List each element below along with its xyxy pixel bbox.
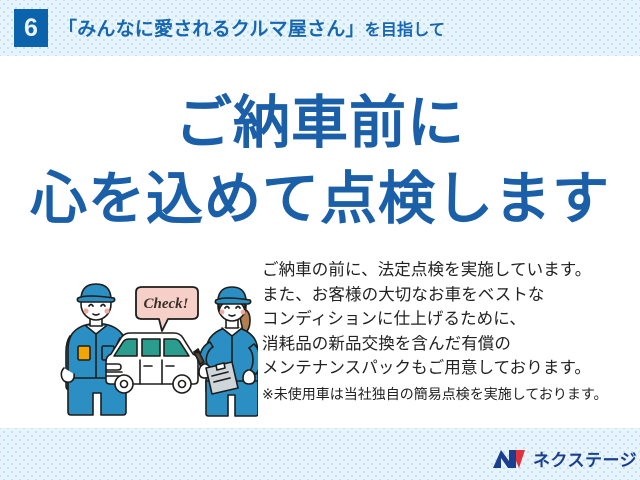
brand-logo: ネクステージ xyxy=(492,446,637,471)
body-copy-block: ご納車の前に、法定点検を実施しています。 また、お客様の大切なお車をベストな コ… xyxy=(262,258,622,405)
body-line-1: ご納車の前に、法定点検を実施しています。 xyxy=(262,258,622,283)
promo-banner: 6 「みんなに愛されるクルマ屋さん」を目指して ご納車前に 心を込めて点検します xyxy=(0,0,640,480)
illustration-svg: Check! xyxy=(58,272,258,417)
header-title-main: 「みんなに愛されるクルマ屋さん」 xyxy=(58,19,365,40)
step-number-badge: 6 xyxy=(14,9,48,47)
van-illustration xyxy=(106,333,198,393)
header-title-suffix: を目指して xyxy=(365,22,446,39)
brand-wordmark: ネクステージ xyxy=(533,446,637,471)
mechanics-inspection-illustration: Check! xyxy=(58,272,258,417)
body-footnote: ※未使用車は当社独自の簡易点検を実施しております。 xyxy=(262,383,622,405)
header-title: 「みんなに愛されるクルマ屋さん」を目指して xyxy=(58,14,445,41)
female-mechanic-figure xyxy=(194,287,258,416)
body-line-5: メンテナンスパックもご用意しております。 xyxy=(262,356,622,381)
body-line-4: 消耗品の新品交換を含んだ有償の xyxy=(262,332,622,357)
nextage-n-mark-icon xyxy=(492,448,526,470)
body-line-2: また、お客様の大切なお車をベストな xyxy=(262,283,622,308)
headline-line-2: 心を込めて点検します xyxy=(0,168,640,230)
body-line-3: コンディションに仕上げるために、 xyxy=(262,307,622,332)
speech-bubble-label: Check! xyxy=(144,296,189,312)
headline-line-1: ご納車前に xyxy=(0,92,640,154)
